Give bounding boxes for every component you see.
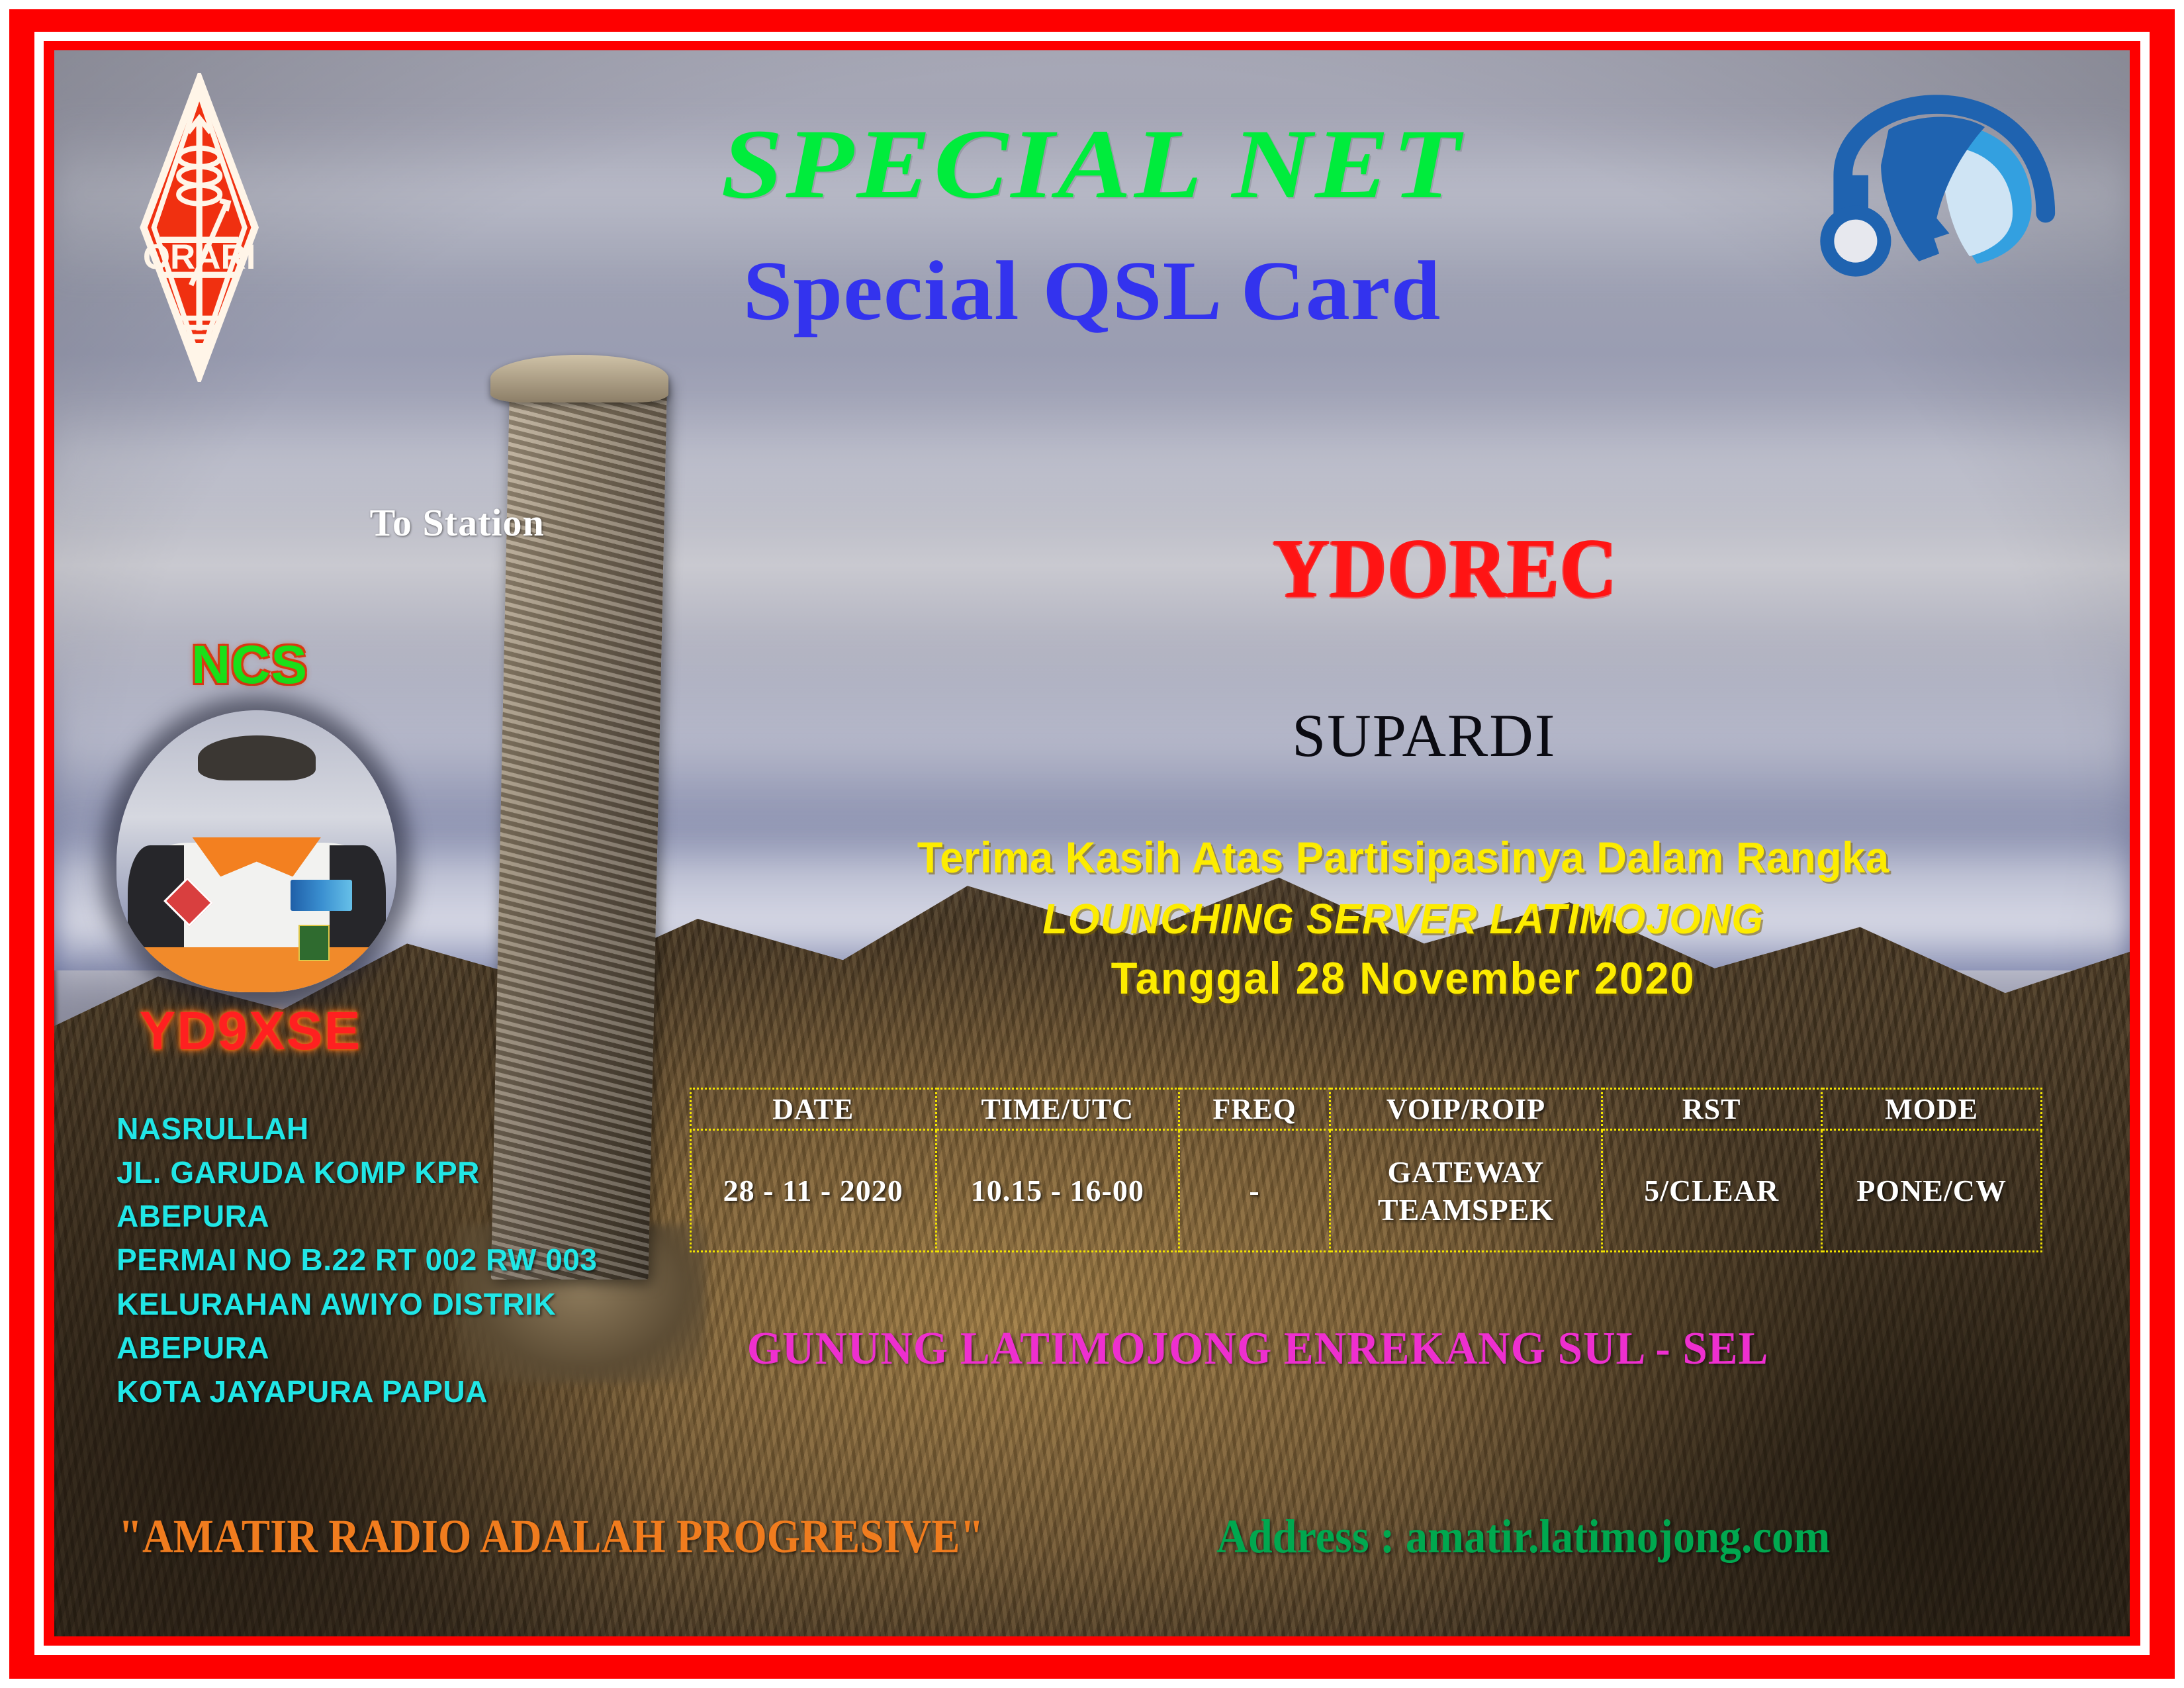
footer-motto: "AMATIR RADIO ADALAH PROGRESIVE": [118, 1509, 983, 1564]
operator-hair: [198, 735, 316, 780]
table-header-voip-roip: VOIP/ROIP: [1330, 1088, 1602, 1129]
qsl-card: ORARI: [0, 0, 2184, 1688]
address-line: ABEPURA: [116, 1326, 597, 1370]
table-cell-freq: -: [1179, 1129, 1330, 1251]
overlay-layer: ORARI: [54, 50, 2130, 1636]
card-photo-background: ORARI: [54, 50, 2130, 1636]
thanks-line-1: Terima Kasih Atas Partisipasinya Dalam R…: [786, 832, 2021, 882]
table-header-mode: MODE: [1821, 1088, 2041, 1129]
table-cell-rst: 5/CLEAR: [1602, 1129, 1821, 1251]
table-cell-voip-line2: TEAMSPEK: [1332, 1191, 1599, 1229]
table-header-time-utc: TIME/UTC: [936, 1088, 1179, 1129]
table-cell-voip: GATEWAY TEAMSPEK: [1330, 1129, 1602, 1251]
address-line: KELURAHAN AWIYO DISTRIK: [116, 1282, 597, 1326]
table-header-freq: FREQ: [1179, 1088, 1330, 1129]
station-callsign: YDOREC: [967, 520, 1923, 617]
operator-waistband: [133, 947, 380, 992]
location-line: GUNUNG LATIMOJONG ENREKANG SUL - SEL: [621, 1323, 1896, 1376]
thanks-line-2-event: LOUNCHING SERVER LATIMOJONG: [786, 894, 2021, 943]
page-title-special-net: SPECIAL NET: [54, 107, 2130, 221]
ncs-callsign: YD9XSE: [140, 1000, 362, 1062]
table-cell-time: 10.15 - 16-00: [936, 1129, 1179, 1251]
operator-photo: [116, 710, 396, 992]
operator-id-tag: [298, 925, 330, 961]
operator-chest-logo: [291, 880, 352, 911]
station-address-block: NASRULLAH JL. GARUDA KOMP KPR ABEPURA PE…: [116, 1107, 597, 1414]
table-header-row: DATE TIME/UTC FREQ VOIP/ROIP RST MODE: [690, 1088, 2042, 1129]
page-subtitle-qsl-card: Special QSL Card: [54, 242, 2130, 340]
address-line: ABEPURA: [116, 1194, 597, 1238]
footer-web-address: Address : amatir.latimojong.com: [1216, 1509, 1830, 1564]
ncs-label: NCS: [191, 634, 308, 696]
address-line: PERMAI NO B.22 RT 002 RW 003: [116, 1238, 597, 1282]
table-row: 28 - 11 - 2020 10.15 - 16-00 - GATEWAY T…: [690, 1129, 2042, 1251]
table-cell-date: 28 - 11 - 2020: [690, 1129, 936, 1251]
address-line: JL. GARUDA KOMP KPR: [116, 1150, 597, 1194]
address-line: NASRULLAH: [116, 1107, 597, 1150]
table-cell-voip-line1: GATEWAY: [1332, 1153, 1599, 1191]
table-cell-mode: PONE/CW: [1821, 1129, 2041, 1251]
qso-log-table: DATE TIME/UTC FREQ VOIP/ROIP RST MODE 28…: [690, 1088, 2043, 1252]
address-line: KOTA JAYAPURA PAPUA: [116, 1370, 597, 1413]
operator-name: SUPARDI: [926, 700, 1922, 771]
table-header-date: DATE: [690, 1088, 936, 1129]
to-station-label: To Station: [370, 500, 545, 545]
thanks-line-3-date: Tanggal 28 November 2020: [786, 953, 2021, 1004]
table-header-rst: RST: [1602, 1088, 1821, 1129]
